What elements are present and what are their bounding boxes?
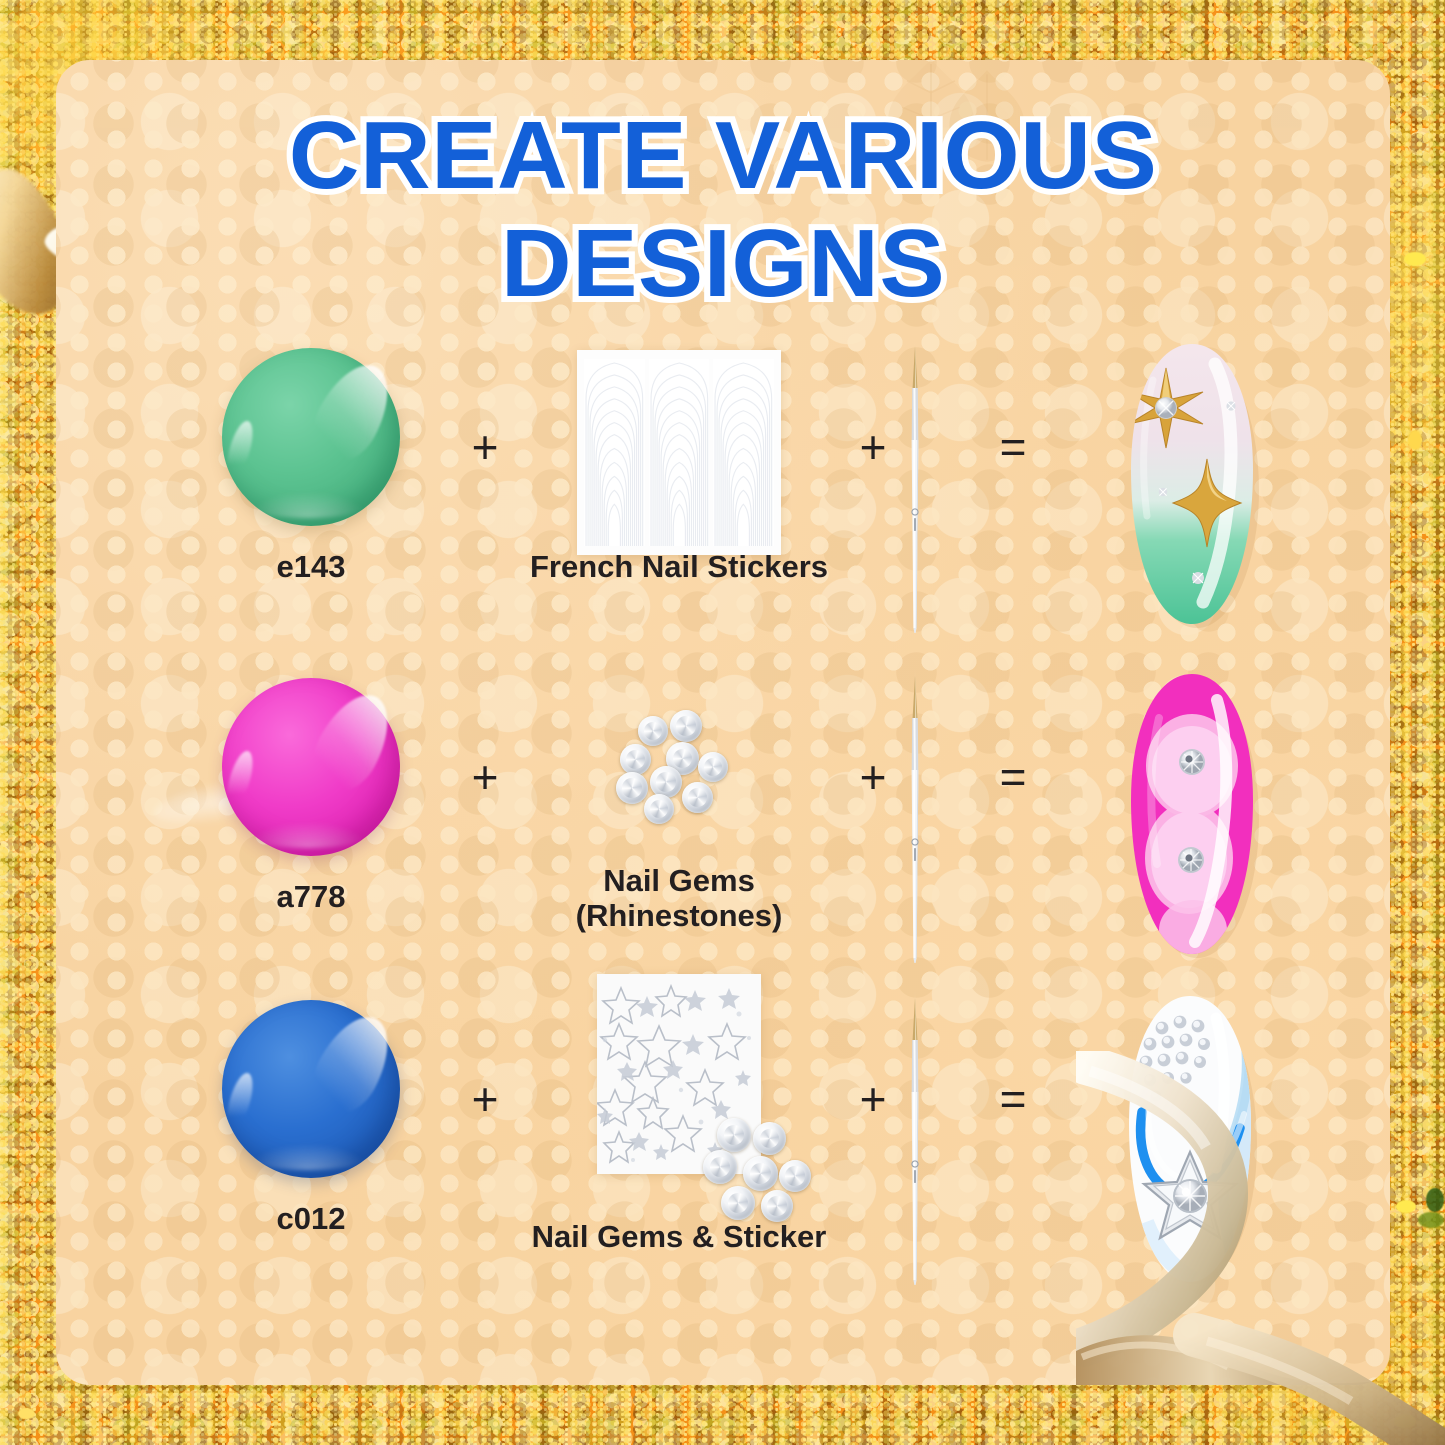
green-polish-swatch[interactable] <box>222 348 400 526</box>
sparkle-icon <box>18 1408 35 1419</box>
rhinestone <box>1178 847 1204 873</box>
equals-icon: = <box>974 420 1052 474</box>
extra-item-label: Nail Gems & Sticker <box>499 1220 859 1255</box>
highlight <box>222 1070 257 1131</box>
design-row: e143 + <box>56 338 1390 638</box>
extra-item-cell: French Nail Stickers <box>524 338 834 638</box>
polish-swatch-wrap <box>222 348 400 526</box>
sticker-column <box>584 359 645 546</box>
sparkle-icon <box>1394 1414 1416 1428</box>
finished-nail-pink-airbrush-with-rhinestones <box>1119 670 1265 965</box>
polish-cell: c012 <box>176 990 446 1290</box>
tool-cell <box>856 668 974 968</box>
equals-icon: = <box>974 1072 1052 1126</box>
result-cell <box>1052 338 1332 638</box>
tool-cell <box>856 990 974 1290</box>
polish-swatch-wrap <box>222 1000 400 1178</box>
plus-icon: + <box>446 1072 524 1126</box>
sparkle-icon <box>1396 1200 1416 1213</box>
rhinestone-cluster[interactable] <box>604 708 754 828</box>
polish-code-label: c012 <box>151 1202 471 1237</box>
extra-item-label: Nail Gems (Rhinestones) <box>499 864 859 933</box>
polish-code-label: a778 <box>151 880 471 915</box>
operator-cell: = <box>974 338 1052 638</box>
page-title-line-2: DESIGNS <box>56 210 1390 318</box>
pink-polish-swatch[interactable] <box>222 678 400 856</box>
page-title: CREATE VARIOUS DESIGNS <box>56 102 1390 317</box>
tool-cell <box>856 338 974 638</box>
highlight <box>222 418 257 479</box>
sticker-column <box>649 359 710 546</box>
equals-icon: = <box>974 750 1052 804</box>
highlight <box>248 822 368 848</box>
highlight <box>248 1144 368 1170</box>
extra-item-label-line-1: Nail Gems <box>499 864 859 899</box>
plus-icon: + <box>446 750 524 804</box>
design-row: c012 + <box>56 990 1390 1290</box>
blue-polish-swatch[interactable] <box>222 1000 400 1178</box>
operator-cell: = <box>974 990 1052 1290</box>
design-row: a778 + Nail Gems <box>56 668 1390 968</box>
extra-item-label: French Nail Stickers <box>499 550 859 585</box>
extra-item-cell: Nail Gems (Rhinestones) <box>524 668 834 968</box>
operator-cell: = <box>974 668 1052 968</box>
result-cell <box>1052 668 1332 968</box>
result-cell <box>1052 990 1332 1290</box>
highlight <box>248 492 368 518</box>
content-card: CREATE VARIOUS DESIGNS e143 + <box>56 60 1390 1385</box>
sparkle-icon <box>1404 252 1426 266</box>
nail-art-liner-brush[interactable] <box>902 674 928 969</box>
nail-art-liner-brush[interactable] <box>902 996 928 1291</box>
sticker-column <box>713 359 774 546</box>
sparkle-icon <box>1426 1188 1444 1212</box>
page-title-line-1: CREATE VARIOUS <box>289 102 1158 209</box>
plus-icon: + <box>446 420 524 474</box>
infographic-canvas: CREATE VARIOUS DESIGNS e143 + <box>0 0 1445 1445</box>
finished-nail-green-gradient-with-gold-stars <box>1119 340 1265 635</box>
star-sticker-sheet-with-gems[interactable] <box>597 974 761 1174</box>
polish-cell: e143 <box>176 338 446 638</box>
operator-cell: + <box>446 338 524 638</box>
sparkle-icon <box>1418 1212 1444 1228</box>
extra-item-cell: Nail Gems & Sticker <box>524 990 834 1290</box>
nail-art-liner-brush[interactable] <box>902 344 928 639</box>
polish-cell: a778 <box>176 668 446 968</box>
french-tip-sticker-sheet[interactable] <box>577 350 781 555</box>
highlight <box>222 748 257 809</box>
rhinestone <box>1179 749 1205 775</box>
rhinestone-cluster <box>699 1116 817 1226</box>
sparkle-icon <box>1408 430 1422 450</box>
polish-swatch-wrap <box>222 678 400 856</box>
extra-item-label-line-2: (Rhinestones) <box>499 899 859 934</box>
finished-nail-white-blue-wave-with-star-charm <box>1116 992 1268 1291</box>
polish-code-label: e143 <box>151 550 471 585</box>
